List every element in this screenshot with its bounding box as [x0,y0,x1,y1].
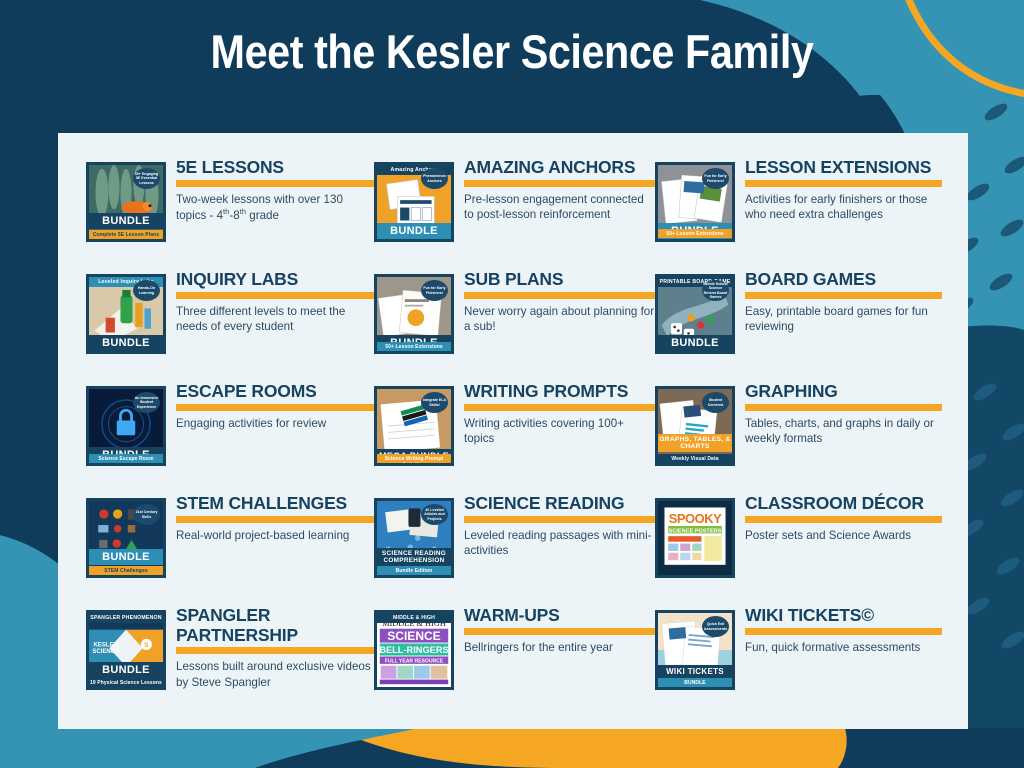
thumbnail-bundle-label: SCIENCE READING COMPREHENSION [377,548,451,566]
svg-text:SCIENCE: SCIENCE [387,629,440,643]
card-heading: SUB PLANS [464,270,655,290]
orange-rule [745,292,942,299]
card-heading: ESCAPE ROOMS [176,382,374,402]
thumbnail-sub-label: Bundle Edition [377,566,451,575]
card-description: Fun, quick formative assessments [745,640,942,655]
orange-rule [176,180,374,187]
orange-rule [464,516,655,523]
thumbnail-graphing[interactable]: Student CenteredGRAPHS, TABLES, & CHARTS… [655,386,735,466]
thumbnail-badge: 40 Leveled Articles and Projects [421,504,448,525]
thumbnail-bundle-label: BUNDLE [89,662,163,678]
card-description: Never worry again about planning for a s… [464,304,655,335]
product-card-amazing-anchors[interactable]: Amazing AnchorsPhenomenon AnchorsBUNDLEA… [374,156,655,268]
product-card-classroom-decor[interactable]: SPOOKY SCIENCE POSTERS CLASSROOM DÉCORPo… [655,492,942,604]
thumbnail-sub-label: BUNDLE [658,678,732,687]
svg-text:SCIENCE: SCIENCE [92,649,119,655]
orange-rule [176,647,374,654]
card-body-wiki-tickets: WIKI TICKETS©Fun, quick formative assess… [735,604,942,655]
product-card-inquiry-labs[interactable]: Leveled Inquiry LabsHands-On LearningBUN… [86,268,374,380]
card-heading: GRAPHING [745,382,942,402]
thumbnail-inquiry-labs[interactable]: Leveled Inquiry LabsHands-On LearningBUN… [86,274,166,354]
svg-text:BELL-RINGERS: BELL-RINGERS [379,645,448,655]
content-panel: 50+ Engaging 5E Essential LessonsBUNDLEC… [58,133,968,729]
product-card-lesson-extensions[interactable]: Fun for Early Finishers!BUNDLE50+ Lesson… [655,156,942,268]
card-description: Leveled reading passages with mini-activ… [464,528,655,559]
card-description: Three different levels to meet the needs… [176,304,374,335]
card-body-spangler-partnership: SPANGLER PARTNERSHIPLessons built around… [166,604,374,690]
thumbnail-art-spooky-posters: SPOOKY SCIENCE POSTERS [658,501,732,575]
card-description: Two-week lessons with over 130 topics - … [176,192,374,224]
thumbnail-sub-label: Weekly Visual Data [658,454,732,463]
card-body-inquiry-labs: INQUIRY LABSThree different levels to me… [166,268,374,334]
svg-text:SCIENCE POSTERS: SCIENCE POSTERS [669,528,722,534]
card-heading: SPANGLER PARTNERSHIP [176,606,374,645]
orange-rule [464,404,655,411]
card-heading: WIKI TICKETS© [745,606,942,626]
product-grid: 50+ Engaging 5E Essential LessonsBUNDLEC… [86,156,942,716]
thumbnail-bundle-label: BUNDLE [658,335,732,351]
product-card-writing-prompts[interactable]: Integrate ELA Skills!MEGA BUNDLEScience … [374,380,655,492]
product-card-sub-plans[interactable]: Fun for Early Finishers!BUNDLE50+ Lesson… [374,268,655,380]
card-description: Real-world project-based learning [176,528,374,543]
thumbnail-writing-prompts[interactable]: Integrate ELA Skills!MEGA BUNDLEScience … [374,386,454,466]
product-card-warm-ups[interactable]: MIDDLE & HIGH SCIENCE BELL-RINGERS FULL … [374,604,655,716]
card-body-science-reading: SCIENCE READINGLeveled reading passages … [454,492,655,558]
thumbnail-bundle-label: BUNDLE [377,223,451,239]
thumbnail-amazing-anchors[interactable]: Amazing AnchorsPhenomenon AnchorsBUNDLE [374,162,454,242]
card-heading: LESSON EXTENSIONS [745,158,942,178]
thumbnail-sub-label: 19 Physical Science Lessons [89,678,163,687]
card-description: Poster sets and Science Awards [745,528,942,543]
card-body-escape-rooms: ESCAPE ROOMSEngaging activities for revi… [166,380,374,431]
thumbnail-escape-rooms[interactable]: An Immersive Student ExperienceBUNDLESci… [86,386,166,466]
card-body-warm-ups: WARM-UPSBellringers for the entire year [454,604,655,655]
thumbnail-science-reading[interactable]: 40 Leveled Articles and ProjectsSCIENCE … [374,498,454,578]
orange-rule [745,628,942,635]
thumbnail-stem-challenges[interactable]: 21st Century SkillsBUNDLESTEM Challenges [86,498,166,578]
thumbnail-badge: 21st Century Skills [133,504,160,525]
card-heading: WARM-UPS [464,606,655,626]
thumbnail-bundle-label: WIKI TICKETS [658,665,732,678]
card-body-lesson-extensions: LESSON EXTENSIONSActivities for early fi… [735,156,942,222]
product-card-graphing[interactable]: Student CenteredGRAPHS, TABLES, & CHARTS… [655,380,942,492]
thumbnail-lesson-extensions[interactable]: Fun for Early Finishers!BUNDLE50+ Lesson… [655,162,735,242]
thumbnail-sub-label: Science Escape Room [89,454,163,463]
card-body-5e-lessons: 5E LESSONSTwo-week lessons with over 130… [166,156,374,223]
product-card-5e-lessons[interactable]: 50+ Engaging 5E Essential LessonsBUNDLEC… [86,156,374,268]
card-body-stem-challenges: STEM CHALLENGESReal-world project-based … [166,492,374,543]
card-heading: WRITING PROMPTS [464,382,655,402]
thumbnail-bundle-label: BUNDLE [89,335,163,351]
product-card-spangler-partnership[interactable]: KESLER SCIENCE SSPANGLER PHENOMENONBUNDL… [86,604,374,716]
orange-rule [176,404,374,411]
thumbnail-badge: Middle School Science Review Board Games [702,280,729,301]
card-heading: AMAZING ANCHORS [464,158,655,178]
thumbnail-bundle-label: BUNDLE [89,549,163,565]
product-card-escape-rooms[interactable]: An Immersive Student ExperienceBUNDLESci… [86,380,374,492]
product-card-board-games[interactable]: PRINTABLE BOARD GAMEMiddle School Scienc… [655,268,942,380]
thumbnail-sub-plans[interactable]: Fun for Early Finishers!BUNDLE50+ Lesson… [374,274,454,354]
card-description: Activities for early finishers or those … [745,192,942,223]
orange-rule [176,516,374,523]
product-card-wiki-tickets[interactable]: Quick Exit AssessmentsWIKI TICKETSBUNDLE… [655,604,942,716]
thumbnail-badge: Hands-On Learning [133,280,160,301]
card-heading: 5E LESSONS [176,158,374,178]
thumbnail-badge: An Immersive Student Experience [133,392,160,413]
thumbnail-sub-label: STEM Challenges [89,566,163,575]
thumbnail-sub-label: Science Writing Prompt Activities [377,454,451,466]
thumbnail-top-label: MIDDLE & HIGH [377,613,451,623]
thumbnail-warm-ups[interactable]: MIDDLE & HIGH SCIENCE BELL-RINGERS FULL … [374,610,454,690]
card-description: Tables, charts, and graphs in daily or w… [745,416,942,447]
card-description: Pre-lesson engagement connected to post-… [464,192,655,223]
thumbnail-wiki-tickets[interactable]: Quick Exit AssessmentsWIKI TICKETSBUNDLE [655,610,735,690]
card-description: Lessons built around exclusive videos by… [176,659,374,690]
thumbnail-spangler-partnership[interactable]: KESLER SCIENCE SSPANGLER PHENOMENONBUNDL… [86,610,166,690]
thumbnail-bundle-label: GRAPHS, TABLES, & CHARTS [658,434,732,452]
card-body-amazing-anchors: AMAZING ANCHORSPre-lesson engagement con… [454,156,655,222]
thumbnail-5e-lessons[interactable]: 50+ Engaging 5E Essential LessonsBUNDLEC… [86,162,166,242]
svg-text:FULL YEAR RESOURCE: FULL YEAR RESOURCE [385,658,444,664]
orange-rule [176,292,374,299]
thumbnail-badge: Quick Exit Assessments [702,616,729,637]
card-body-board-games: BOARD GAMESEasy, printable board games f… [735,268,942,334]
card-description: Bellringers for the entire year [464,640,655,655]
orange-rule [464,628,655,635]
orange-rule [745,516,942,523]
thumbnail-bundle-label: BUNDLE [89,213,163,229]
card-heading: BOARD GAMES [745,270,942,290]
thumbnail-board-games[interactable]: PRINTABLE BOARD GAMEMiddle School Scienc… [655,274,735,354]
orange-rule [464,292,655,299]
page-title: Meet the Kesler Science Family [61,24,962,79]
product-card-stem-challenges[interactable]: 21st Century SkillsBUNDLESTEM Challenges… [86,492,374,604]
svg-text:S: S [144,642,149,649]
svg-text:KESLER: KESLER [93,642,118,648]
thumbnail-badge: Student Centered [702,392,729,413]
thumbnail-classroom-decor[interactable]: SPOOKY SCIENCE POSTERS [655,498,735,578]
thumbnail-sub-label: 50+ Lesson Extensions [658,229,732,238]
orange-rule [745,180,942,187]
svg-text:SPOOKY: SPOOKY [669,511,722,526]
card-heading: INQUIRY LABS [176,270,374,290]
thumbnail-badge: 50+ Engaging 5E Essential Lessons [133,168,160,189]
thumbnail-badge: Fun for Early Finishers! [421,280,448,301]
thumbnail-sub-label: 50+ Lesson Extensions [377,342,451,351]
thumbnail-badge: Phenomenon Anchors [421,168,448,189]
card-body-graphing: GRAPHINGTables, charts, and graphs in da… [735,380,942,446]
card-heading: SCIENCE READING [464,494,655,514]
thumbnail-sub-label: Complete 5E Lesson Plans [89,230,163,239]
card-body-writing-prompts: WRITING PROMPTSWriting activities coveri… [454,380,655,446]
thumbnail-top-label: SPANGLER PHENOMENON [89,613,163,623]
card-description: Engaging activities for review [176,416,374,431]
orange-rule [464,180,655,187]
card-body-classroom-decor: CLASSROOM DÉCORPoster sets and Science A… [735,492,942,543]
thumbnail-badge: Integrate ELA Skills! [421,392,448,413]
card-body-sub-plans: SUB PLANSNever worry again about plannin… [454,268,655,334]
card-description: Easy, printable board games for fun revi… [745,304,942,335]
card-heading: CLASSROOM DÉCOR [745,494,942,514]
card-heading: STEM CHALLENGES [176,494,374,514]
thumbnail-art-bell-ringers: MIDDLE & HIGH SCIENCE BELL-RINGERS FULL … [377,613,451,687]
product-card-science-reading[interactable]: 40 Leveled Articles and ProjectsSCIENCE … [374,492,655,604]
orange-rule [745,404,942,411]
thumbnail-badge: Fun for Early Finishers! [702,168,729,189]
card-description: Writing activities covering 100+ topics [464,416,655,447]
